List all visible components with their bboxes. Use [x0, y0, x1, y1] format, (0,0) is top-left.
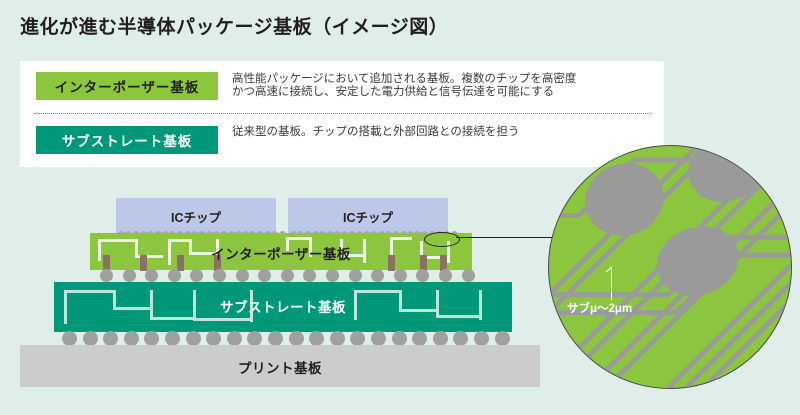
print-board-layer: プリント基板 — [20, 345, 540, 387]
solder-ball — [168, 269, 181, 282]
solder-ball — [371, 331, 386, 346]
solder-ball — [124, 331, 139, 346]
solder-ball — [62, 331, 77, 346]
interposer-trace — [98, 239, 138, 242]
solder-ball — [227, 331, 242, 346]
substrate-layer: サブストレート基板 — [54, 282, 512, 332]
solder-ball — [439, 269, 452, 282]
interposer-trace — [390, 237, 412, 240]
solder-ball — [145, 269, 158, 282]
substrate-trace — [193, 318, 253, 321]
solder-ball — [303, 269, 316, 282]
callout-ellipse-marker — [424, 232, 460, 247]
solder-ball — [462, 269, 475, 282]
solder-ball — [165, 331, 180, 346]
substrate-trace — [64, 290, 116, 293]
solder-ball — [206, 331, 221, 346]
substrate-trace — [150, 317, 196, 320]
interposer-layer: インターポーザー基板 — [90, 233, 472, 270]
package-stack-diagram: ICチップ ICチップ インターポーザー基板 サブストレート基板 プリント基板 — [0, 0, 560, 415]
solder-ball — [186, 331, 201, 346]
infographic-root: 進化が進む半導体パッケージ基板（イメージ図） インターポーザー基板 高性能パッケ… — [0, 0, 800, 415]
magnifier-circle: サブμ〜2μm — [548, 145, 792, 389]
interposer-label: インターポーザー基板 — [90, 243, 472, 263]
solder-ball — [258, 269, 271, 282]
solder-ball — [371, 269, 384, 282]
solder-ball — [281, 269, 294, 282]
solder-ball — [100, 269, 113, 282]
solder-ball — [309, 331, 324, 346]
solder-ball — [103, 331, 118, 346]
solder-ball — [247, 331, 262, 346]
substrate-trace — [354, 290, 402, 293]
solder-ball — [416, 269, 429, 282]
solder-ball — [123, 269, 136, 282]
solder-ball — [213, 269, 226, 282]
solder-ball — [394, 269, 407, 282]
solder-ball — [495, 331, 510, 346]
ic-chip-left: ICチップ — [116, 198, 276, 234]
solder-ball — [433, 331, 448, 346]
solder-ball — [326, 269, 339, 282]
solder-ball — [330, 331, 345, 346]
solder-ball — [349, 269, 362, 282]
solder-ball — [190, 269, 203, 282]
magnifier-traces-graphic — [549, 146, 791, 388]
solder-ball — [453, 331, 468, 346]
ic-chip-right: ICチップ — [288, 198, 448, 234]
solder-ball — [268, 331, 283, 346]
solder-ball — [392, 331, 407, 346]
solder-ball — [144, 331, 159, 346]
solder-ball — [236, 269, 249, 282]
scale-leader-line — [611, 268, 612, 300]
solder-ball — [83, 331, 98, 346]
scale-label: サブμ〜2μm — [567, 300, 632, 316]
solder-ball — [412, 331, 427, 346]
solder-ball — [350, 331, 365, 346]
solder-ball — [289, 331, 304, 346]
substrate-label: サブストレート基板 — [54, 296, 512, 316]
solder-ball — [474, 331, 489, 346]
print-board-label: プリント基板 — [20, 357, 540, 377]
